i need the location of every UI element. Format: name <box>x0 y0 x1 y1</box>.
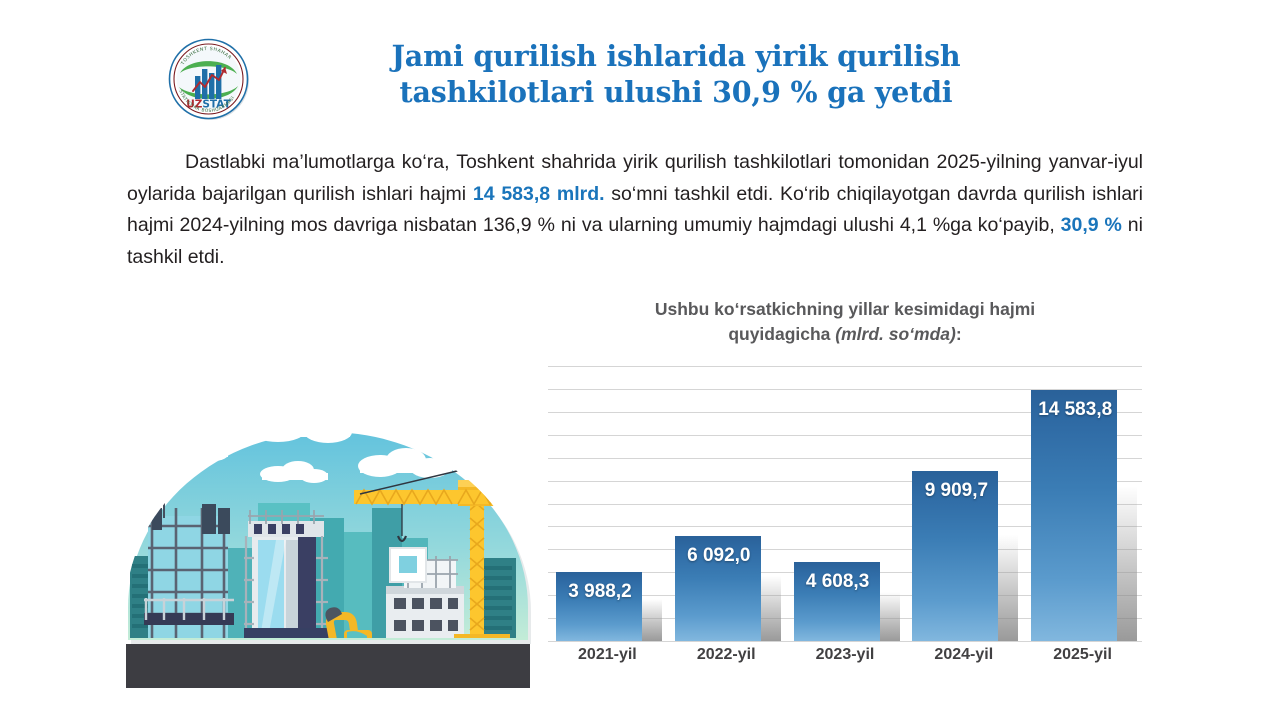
chart-bar[interactable]: 6 092,0 <box>675 536 761 641</box>
chart-bar-slot: 9 909,7 <box>904 366 1023 641</box>
crane-load-panel <box>390 548 426 582</box>
left-building <box>144 496 234 643</box>
chart-x-label: 2025-yil <box>1023 646 1142 664</box>
chart-subtitle-line-2: quyidagicha (mlrd. so‘mda): <box>548 322 1142 347</box>
chart-subtitle-main: quyidagicha <box>728 324 835 344</box>
page-title: Jami qurilish ishlarida yirik qurilish t… <box>266 38 1086 110</box>
chart-bar-value-label: 9 909,7 <box>906 480 1006 502</box>
chart-bars: 3 988,26 092,04 608,39 909,714 583,8 <box>548 366 1142 641</box>
chart-bar[interactable]: 3 988,2 <box>556 572 642 641</box>
chart-bar[interactable]: 14 583,8 <box>1031 390 1117 641</box>
body-highlight-amount: 14 583,8 mlrd. <box>473 183 605 205</box>
chart-bar-shadow <box>878 592 900 641</box>
chart-x-label: 2023-yil <box>786 646 905 664</box>
chart-gridline <box>548 641 1142 642</box>
chart-x-label: 2021-yil <box>548 646 667 664</box>
construction-site-svg <box>118 408 538 688</box>
chart-x-axis-labels: 2021-yil2022-yil2023-yil2024-yil2025-yil <box>548 646 1142 672</box>
chart-x-label: 2022-yil <box>667 646 786 664</box>
chart-bar-value-label: 3 988,2 <box>550 581 650 603</box>
chart-subtitle-unit: (mlrd. so‘mda) <box>835 324 956 344</box>
page-title-line-1: Jami qurilish ishlarida yirik qurilish <box>266 38 1086 74</box>
uzstat-logo: UZSTAT TOSHKENT SHAHAR STATISTIKA BOSHQA… <box>167 37 251 121</box>
chart-bar-value-label: 14 583,8 <box>1025 399 1125 421</box>
chart-subtitle-line-1: Ushbu ko‘rsatkichning yillar kesimidagi … <box>548 297 1142 322</box>
header: UZSTAT TOSHKENT SHAHAR STATISTIKA BOSHQA… <box>0 0 1280 130</box>
chart-bar[interactable]: 4 608,3 <box>794 562 880 641</box>
uzstat-logo-svg: UZSTAT TOSHKENT SHAHAR STATISTIKA BOSHQA… <box>167 37 251 121</box>
page-title-line-2: tashkilotlari ulushi 30,9 % ga yetdi <box>266 74 1086 110</box>
chart-bar-shadow <box>1115 486 1137 641</box>
chart-subtitle: Ushbu ko‘rsatkichning yillar kesimidagi … <box>548 297 1142 347</box>
body-paragraph-text: Dastlabki ma’lumotlarga ko‘ra, Toshkent … <box>127 147 1143 273</box>
chart-bar[interactable]: 9 909,7 <box>912 471 998 641</box>
body-highlight-share: 30,9 % <box>1061 214 1122 236</box>
chart-bar-shadow <box>996 535 1018 641</box>
chart-bar-value-label: 6 092,0 <box>669 545 769 567</box>
chart-bar-slot: 3 988,2 <box>548 366 667 641</box>
chart-subtitle-colon: : <box>956 324 962 344</box>
chart-x-label: 2024-yil <box>904 646 1023 664</box>
chart: Ushbu ko‘rsatkichning yillar kesimidagi … <box>548 297 1142 677</box>
chart-bar-slot: 6 092,0 <box>667 366 786 641</box>
chart-bar-shadow <box>640 599 662 641</box>
body-paragraph: Dastlabki ma’lumotlarga ko‘ra, Toshkent … <box>127 147 1143 273</box>
chart-bar-slot: 14 583,8 <box>1023 366 1142 641</box>
chart-bar-shadow <box>759 576 781 641</box>
chart-bar-value-label: 4 608,3 <box>788 571 888 593</box>
chart-bar-slot: 4 608,3 <box>786 366 905 641</box>
chart-plot-area: 3 988,26 092,04 608,39 909,714 583,8 <box>548 366 1142 641</box>
construction-site-illustration <box>118 408 538 688</box>
